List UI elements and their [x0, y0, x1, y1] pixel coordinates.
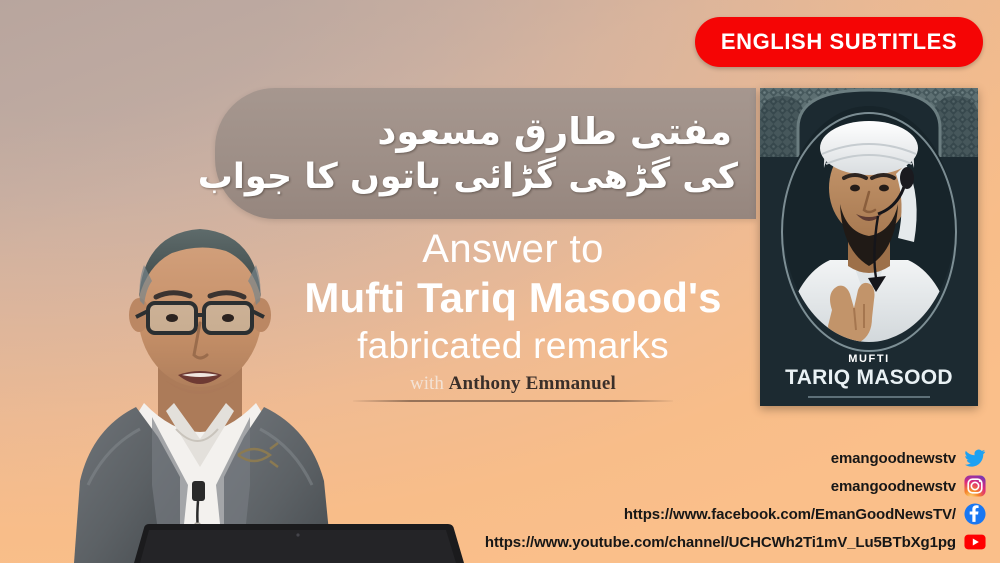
- mufti-title-label: MUFTI: [760, 353, 978, 365]
- with-label: with: [410, 373, 444, 394]
- youtube-icon[interactable]: [964, 531, 986, 553]
- portrait-oval-frame: [781, 112, 957, 352]
- english-subtitles-label: ENGLISH SUBTITLES: [721, 29, 957, 55]
- facebook-url: https://www.facebook.com/EmanGoodNewsTV/: [624, 506, 956, 523]
- speaker-photo-anthony-emmanuel: [40, 185, 360, 563]
- social-row-instagram[interactable]: emangoodnewstv: [831, 473, 986, 499]
- social-row-twitter[interactable]: emangoodnewstv: [831, 445, 986, 471]
- english-subtitles-badge: ENGLISH SUBTITLES: [695, 17, 983, 67]
- social-links-block: emangoodnewstv emangoodnewstv: [485, 445, 986, 555]
- title-divider: [353, 400, 673, 402]
- instagram-handle: emangoodnewstv: [831, 478, 956, 495]
- thumbnail-canvas: ENGLISH SUBTITLES مفتی طارق مسعود کی گڑھ…: [0, 0, 1000, 563]
- laptop-screen: [130, 522, 470, 563]
- youtube-url: https://www.youtube.com/channel/UCHCWh2T…: [485, 534, 956, 551]
- host-name: Anthony Emmanuel: [449, 373, 616, 394]
- social-row-youtube[interactable]: https://www.youtube.com/channel/UCHCWh2T…: [485, 529, 986, 555]
- facebook-icon[interactable]: [964, 503, 986, 525]
- instagram-icon[interactable]: [964, 475, 986, 497]
- mufti-caption-divider: [808, 396, 930, 398]
- twitter-icon[interactable]: [964, 447, 986, 469]
- twitter-handle: emangoodnewstv: [831, 450, 956, 467]
- urdu-title-line-1: مفتی طارق مسعود: [377, 113, 738, 150]
- social-row-facebook[interactable]: https://www.facebook.com/EmanGoodNewsTV/: [624, 501, 986, 527]
- mufti-card-caption: MUFTI TARIQ MASOOD: [760, 353, 978, 398]
- mufti-portrait-card: MUFTI TARIQ MASOOD: [760, 88, 978, 406]
- mufti-name-label: TARIQ MASOOD: [760, 366, 978, 390]
